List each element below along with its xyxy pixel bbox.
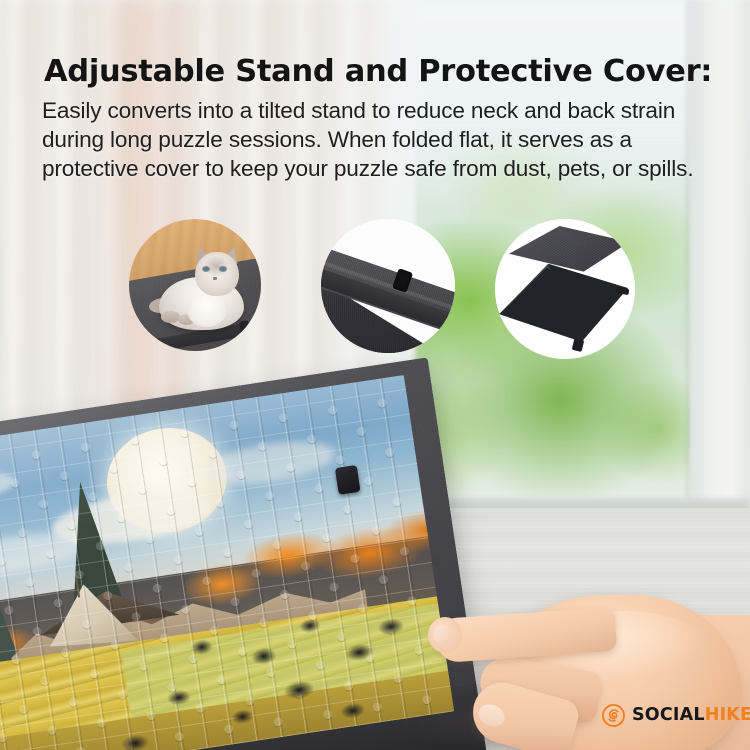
brand-name-hike: HIKE [705,705,750,725]
puzzle-piece-nub [179,427,189,437]
brand-name-social: SOCIAL [632,705,705,725]
puzzle-piece-nub [53,598,63,608]
hero-puzzle-board [0,357,487,750]
puzzle-piece-nub [350,554,360,564]
feature-circle-open-cover [495,219,635,359]
puzzle-piece-nub [32,626,42,636]
puzzle-piece-nub [131,612,141,622]
spiral-s-circle-icon [602,704,625,727]
page-title: Adjustable Stand and Protective Cover: [44,57,724,88]
puzzle-piece-nub [25,577,35,587]
puzzle-piece-nub [4,605,14,615]
cat-nose [213,277,217,280]
puzzle-piece-nub [307,434,317,444]
puzzle-piece-nub [59,471,69,481]
puzzle-piece-nub [278,413,288,423]
puzzle-piece-nub [356,426,366,436]
puzzle-piece-nub [279,589,289,599]
puzzle-piece-nub [38,499,48,509]
puzzle-piece-nub [145,534,155,544]
puzzle-piece-nub [194,526,204,536]
puzzle-piece-nub [293,512,303,522]
puzzle-piece-nub [67,520,77,530]
puzzle-piece-nub [300,561,310,571]
cat-chest [187,293,227,327]
feature-circle-cat-on-board [129,219,261,351]
puzzle-piece-nub [80,442,90,452]
puzzle-piece-nub [187,477,197,487]
description-line-2: during long puzzle sessions. When folded… [42,125,732,154]
puzzle-piece-nub [335,455,345,465]
feature-circle-folded-stand [321,219,455,353]
puzzle-piece-nub [236,469,246,479]
cat-eye-right [220,267,226,272]
puzzle-piece-nub [10,478,20,488]
puzzle-piece-nub [158,456,168,466]
puzzle-piece-nub [208,448,218,458]
cat-eye-left [203,267,209,272]
puzzle-piece-nub [399,546,409,556]
puzzle-piece-nub [371,525,381,535]
puzzle-piece-nub [103,591,113,601]
puzzle-piece-nub [215,498,225,508]
puzzle-piece-nub [244,519,254,529]
puzzle-piece-nub [272,540,282,550]
puzzle-piece-nub [329,582,339,592]
puzzle-piece-nub [265,491,275,501]
description-text: Easily converts into a tilted stand to r… [42,96,732,183]
brand-logo[interactable]: SOCIALHIKE® [602,704,750,727]
puzzle-piece-nub [46,548,56,558]
puzzle-piece-nub [82,619,92,629]
puzzle-piece-nub [74,570,84,580]
puzzle-piece-nub [166,505,176,515]
description-line-1: Easily converts into a tilted stand to r… [42,96,732,125]
puzzle-piece-nub [173,555,183,565]
puzzle-piece-nub [223,547,233,557]
puzzle-piece-nub [385,447,395,457]
puzzle-piece-nub [363,476,373,486]
puzzle-piece-nub [0,556,7,566]
puzzle-piece-nub [116,513,126,523]
puzzle-piece-nub [230,597,240,607]
puzzle-piece-nub [152,583,162,593]
hero-board-strap-tab [335,465,361,495]
puzzle-piece-nub [251,568,261,578]
puzzle-piece-nub [180,604,190,614]
puzzle-piece-nub [229,420,239,430]
puzzle-piece-nub [328,405,338,415]
description-line-3: protective cover to keep your puzzle saf… [42,154,732,183]
puzzle-piece-nub [17,527,27,537]
puzzle-piece-nub [286,462,296,472]
puzzle-piece-nub [378,575,388,585]
puzzle-piece-nub [201,576,211,586]
puzzle-piece-nub [392,497,402,507]
puzzle-piece-nub [314,483,324,493]
puzzle-piece-nub [342,504,352,514]
puzzle-piece-nub [31,450,41,460]
marketing-image-canvas: Adjustable Stand and Protective Cover: E… [0,0,750,750]
puzzle-piece-nub [95,541,105,551]
brand-wordmark: SOCIALHIKE® [632,707,750,725]
puzzle-piece-nub [137,484,147,494]
puzzle-piece-nub [257,441,267,451]
puzzle-piece-nub [321,533,331,543]
hero-puzzle-artwork [0,375,454,750]
puzzle-piece-nub [88,492,98,502]
puzzle-piece-nub [377,398,387,408]
puzzle-piece-nub [130,435,140,445]
puzzle-piece-nub [109,463,119,473]
puzzle-piece-nub [124,562,134,572]
